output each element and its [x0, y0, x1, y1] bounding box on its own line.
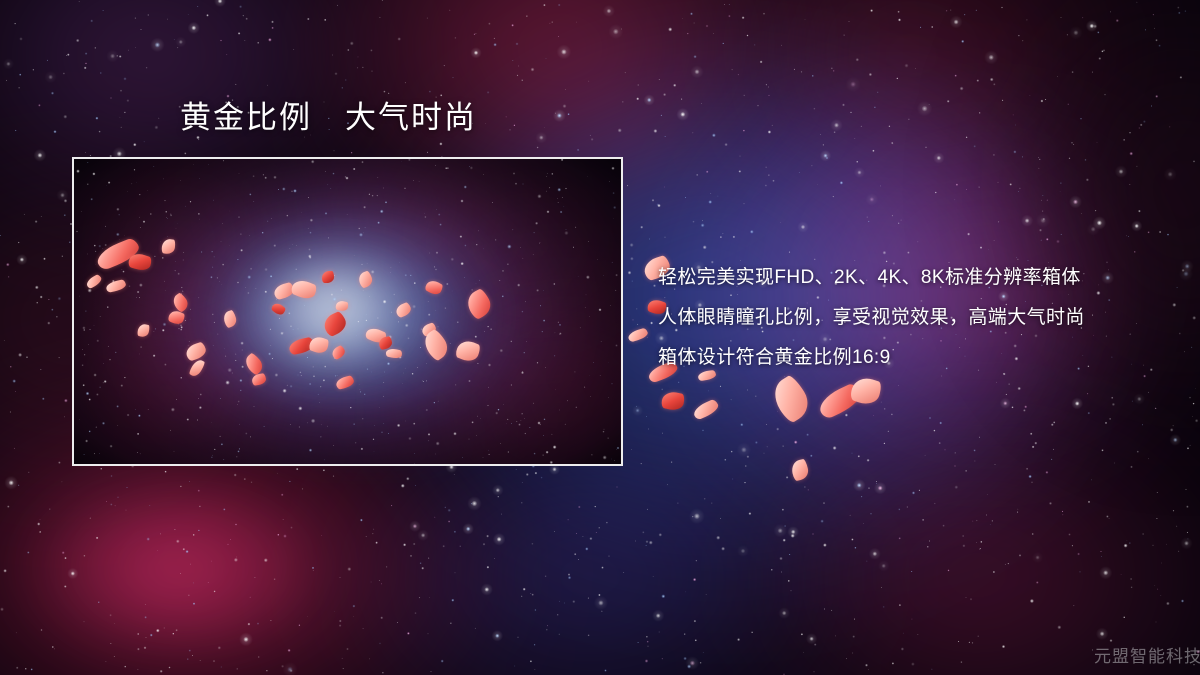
- body-line-3: 箱体设计符合黄金比例16:9: [658, 338, 1178, 378]
- body-text-block: 轻松完美实现FHD、2K、4K、8K标准分辨率箱体 人体眼睛瞳孔比例，享受视觉效…: [658, 258, 1178, 378]
- body-line-2: 人体眼睛瞳孔比例，享受视觉效果，高端大气时尚: [658, 298, 1178, 338]
- body-line-1: 轻松完美实现FHD、2K、4K、8K标准分辨率箱体: [658, 258, 1178, 298]
- slide-title: 黄金比例 大气时尚: [180, 101, 477, 135]
- watermark: 元盟智能科技: [1094, 642, 1200, 667]
- presentation-slide: 黄金比例 大气时尚 轻松完美实现FHD、2K、4K、8K标准分辨率箱体 人体眼睛…: [0, 0, 1200, 675]
- nebula-preview-panel: [72, 157, 623, 466]
- panel-content: [74, 159, 621, 464]
